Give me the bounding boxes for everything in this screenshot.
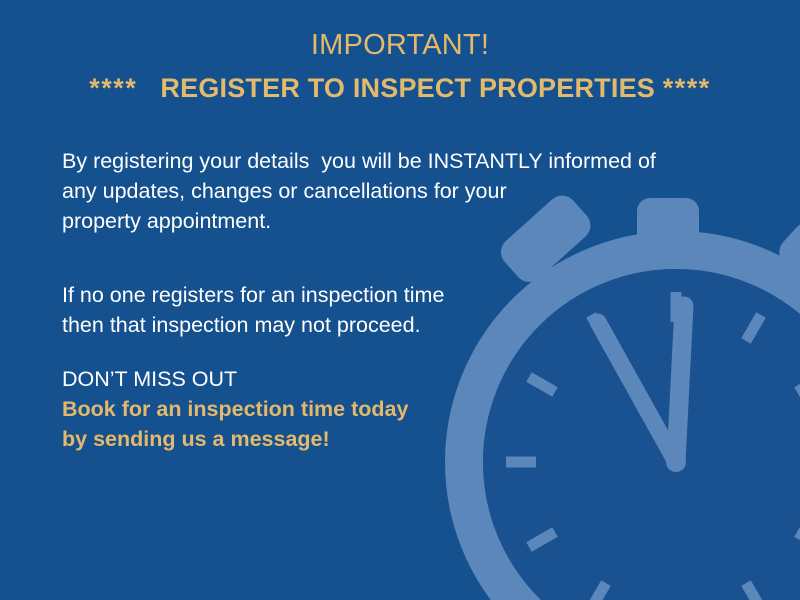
promo-slide: IMPORTANT! **** REGISTER TO INSPECT PROP… xyxy=(0,0,800,600)
headline-important: IMPORTANT! xyxy=(0,26,800,64)
headline-register-text: REGISTER TO INSPECT PROPERTIES xyxy=(160,73,655,103)
body-block: By registering your details you will be … xyxy=(62,146,722,340)
headline-stars-left: **** xyxy=(89,73,137,103)
cta-dont-miss-out: DON’T MISS OUT xyxy=(62,364,582,394)
call-to-action-block: DON’T MISS OUT Book for an inspection ti… xyxy=(62,364,582,454)
headline-register: **** REGISTER TO INSPECT PROPERTIES **** xyxy=(0,70,800,106)
cta-send-message: by sending us a message! xyxy=(62,424,582,454)
slide-content: IMPORTANT! **** REGISTER TO INSPECT PROP… xyxy=(0,0,800,600)
headline-stars-right: **** xyxy=(663,73,711,103)
body-paragraph-2: If no one registers for an inspection ti… xyxy=(62,280,722,340)
cta-book-inspection: Book for an inspection time today xyxy=(62,394,582,424)
body-paragraph-1: By registering your details you will be … xyxy=(62,146,722,236)
headline-block: IMPORTANT! **** REGISTER TO INSPECT PROP… xyxy=(0,26,800,106)
